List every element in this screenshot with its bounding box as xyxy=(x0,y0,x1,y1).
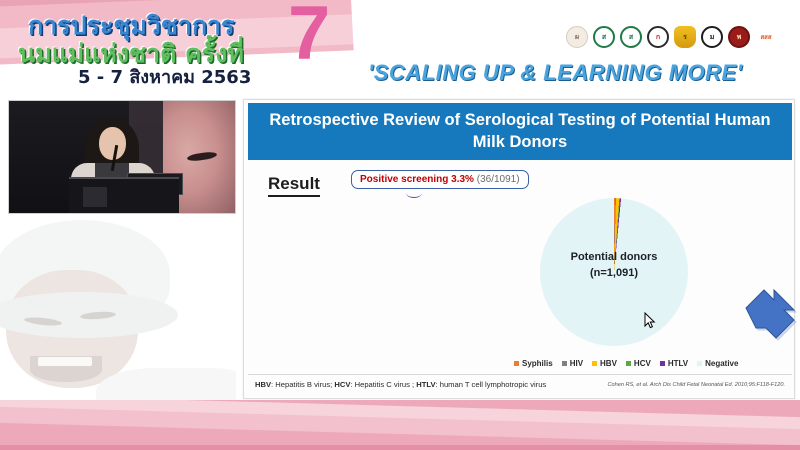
logo-ministry-of-public-health-2-icon: ส xyxy=(620,26,642,48)
legend-potential-donors: Syphilis HIV HBV HCV HTLV Negative xyxy=(514,359,738,368)
footnote-hcv-def: : Hepatitis C virus ; xyxy=(350,380,416,389)
potential-donors-label-line2: (n=1,091) xyxy=(540,266,688,282)
flow-arrow-icon xyxy=(742,286,800,342)
legend-label-hbv: HBV xyxy=(600,359,617,368)
legend-swatch-hbv xyxy=(592,361,597,366)
legend-label-hcv: HCV xyxy=(634,359,651,368)
legend-item-hiv: HIV xyxy=(562,359,583,368)
logo-university-seal-icon: ม xyxy=(701,26,723,48)
potential-donors-pie-center-label: Potential donors (n=1,091) xyxy=(540,250,688,282)
speaker-video[interactable] xyxy=(8,100,236,214)
footer-band xyxy=(0,400,800,450)
event-edition-number: 7 xyxy=(288,0,330,72)
child-background-photo xyxy=(0,218,236,418)
callout-sub-text: (36/1091) xyxy=(477,174,520,185)
logo-ministry-of-public-health-1-icon: ส xyxy=(593,26,615,48)
slide-card: Retrospective Review of Serological Test… xyxy=(243,99,795,399)
callout-main-text: Positive screening 3.3% xyxy=(360,174,474,185)
legend-item-htlv: HTLV xyxy=(660,359,688,368)
footnote-hbv-def: : Hepatitis B virus; xyxy=(271,380,334,389)
footnote-hcv-key: HCV xyxy=(334,380,350,389)
footnote-htlv-def: : human T cell lymphotropic virus xyxy=(436,380,547,389)
footer-bottom-line xyxy=(0,445,800,450)
logo-medical-council-icon: พ xyxy=(728,26,750,48)
callout-leader-line xyxy=(406,188,422,198)
slide-title: Retrospective Review of Serological Test… xyxy=(248,103,792,160)
event-header-banner: การประชุมวิชาการ นมแม่แห่งชาติ ครั้งที่ … xyxy=(0,0,800,96)
podium xyxy=(69,177,179,213)
footnote-htlv-key: HTLV xyxy=(416,380,435,389)
logo-royal-college-icon: ก xyxy=(647,26,669,48)
abbreviation-footnote: HBV: Hepatitis B virus; HCV: Hepatitis C… xyxy=(255,380,546,389)
logo-thai-breastfeeding-foundation-icon: ผ xyxy=(566,26,588,48)
legend-item-negative: Negative xyxy=(697,359,738,368)
legend-item-hcv: HCV xyxy=(626,359,651,368)
legend-label-negative: Negative xyxy=(705,359,738,368)
sponsor-logo-row: ผ ส ส ก ร ม พ สสส xyxy=(566,26,777,48)
legend-swatch-syphilis xyxy=(514,361,519,366)
mouse-cursor-icon xyxy=(644,312,656,329)
presentation-screen: การประชุมวิชาการ นมแม่แห่งชาติ ครั้งที่ … xyxy=(0,0,800,450)
legend-swatch-negative xyxy=(697,361,702,366)
footnote-hbv-key: HBV xyxy=(255,380,271,389)
legend-label-hiv: HIV xyxy=(570,359,583,368)
citation-text: Cohen RS, et al. Arch Dis Child Fetal Ne… xyxy=(607,382,785,388)
positive-screening-callout: Positive screening 3.3% (36/1091) xyxy=(351,170,529,189)
legend-label-htlv: HTLV xyxy=(668,359,688,368)
child-teeth xyxy=(38,357,92,366)
legend-item-hbv: HBV xyxy=(592,359,617,368)
legend-swatch-htlv xyxy=(660,361,665,366)
legend-label-syphilis: Syphilis xyxy=(522,359,553,368)
podium-plate xyxy=(83,187,107,207)
legend-swatch-hcv xyxy=(626,361,631,366)
legend-swatch-hiv xyxy=(562,361,567,366)
event-date-thai: 5 - 7 สิงหาคม 2563 xyxy=(78,62,251,91)
logo-royal-emblem-icon: ร xyxy=(674,26,696,48)
potential-donors-label-line1: Potential donors xyxy=(540,250,688,266)
event-tagline: 'SCALING UP & LEARNING MORE' xyxy=(368,60,742,86)
logo-thaihealth-sss-icon: สสส xyxy=(755,26,777,48)
legend-item-syphilis: Syphilis xyxy=(514,359,553,368)
slide-footnote-bar: HBV: Hepatitis B virus; HCV: Hepatitis C… xyxy=(248,374,792,394)
result-heading: Result xyxy=(268,174,320,197)
